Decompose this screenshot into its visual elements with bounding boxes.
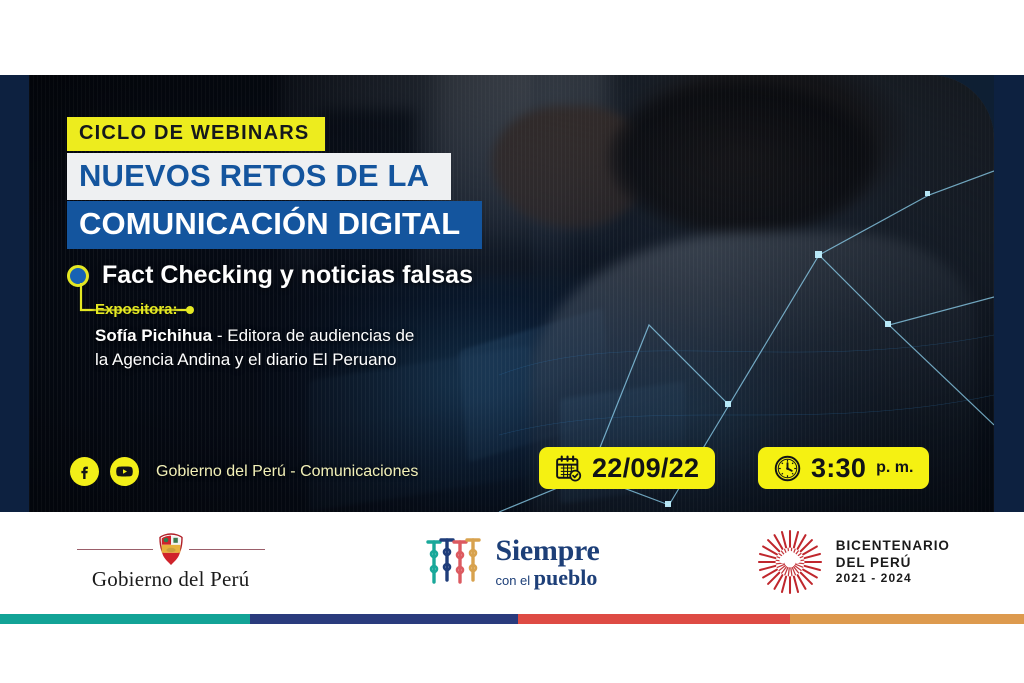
speaker-label: Expositora: — [95, 301, 178, 318]
stripe-segment-1 — [250, 614, 518, 624]
hero-banner: CICLO DE WEBINARS NUEVOS RETOS DE LA COM… — [0, 75, 1024, 512]
rule-right — [189, 549, 265, 550]
calendar-check-icon — [555, 455, 582, 482]
youtube-icon[interactable] — [110, 457, 139, 486]
stripe-segment-0 — [0, 614, 250, 624]
bicentenario-line-3: 2021 - 2024 — [836, 571, 950, 586]
date-badge: 22/09/22 — [539, 447, 715, 489]
bicentenario-sunburst-icon — [757, 529, 823, 595]
siempre-line-2-bold: pueblo — [534, 565, 598, 590]
peru-coat-of-arms-icon — [156, 532, 186, 566]
speaker-name: Sofía Pichihua — [95, 326, 212, 345]
siempre-line-1: Siempre — [495, 536, 599, 566]
footer-color-stripe — [0, 614, 1024, 624]
kicker-label: CICLO DE WEBINARS — [67, 117, 325, 151]
gobierno-del-peru-logo: Gobierno del Perú — [0, 532, 341, 592]
title-line-1: NUEVOS RETOS DE LA — [67, 153, 451, 200]
headline-block: CICLO DE WEBINARS NUEVOS RETOS DE LA COM… — [67, 117, 482, 249]
topic-block: Fact Checking y noticias falsas — [67, 261, 473, 290]
clock-icon — [774, 455, 801, 482]
bicentenario-line-2: DEL PERÚ — [836, 555, 950, 571]
rule-left — [77, 549, 153, 550]
bicentenario-logo: BICENTENARIO DEL PERÚ 2021 - 2024 — [683, 529, 1024, 595]
siempre-con-el-pueblo-icon — [424, 536, 486, 588]
speaker-details: Sofía Pichihua - Editora de audiencias d… — [95, 324, 414, 372]
date-value: 22/09/22 — [592, 453, 699, 484]
stripe-segment-3 — [790, 614, 1024, 624]
title-line-2: COMUNICACIÓN DIGITAL — [67, 201, 482, 249]
time-suffix: p. m. — [876, 459, 913, 477]
banner-right-edge — [994, 75, 1024, 512]
speaker-role-line-1: - Editora de audiencias de — [212, 326, 414, 345]
webinar-flyer: CICLO DE WEBINARS NUEVOS RETOS DE LA COM… — [0, 0, 1024, 683]
speaker-role-line-2: la Agencia Andina y el diario El Peruano — [95, 350, 396, 369]
bicentenario-line-1: BICENTENARIO — [836, 538, 950, 554]
time-value: 3:30 — [811, 453, 866, 484]
stripe-segment-2 — [518, 614, 790, 624]
social-handle: Gobierno del Perú - Comunicaciones — [156, 463, 418, 481]
facebook-icon[interactable] — [70, 457, 99, 486]
gobierno-label: Gobierno del Perú — [92, 567, 250, 592]
siempre-line-2-small: con el — [495, 573, 533, 588]
footer-logos: Gobierno del Perú — [0, 512, 1024, 612]
time-badge: 3:30 p. m. — [758, 447, 929, 489]
siempre-line-2: con el pueblo — [495, 567, 599, 589]
banner-left-edge — [0, 75, 29, 512]
siempre-con-el-pueblo-logo: Siempre con el pueblo — [341, 536, 682, 589]
social-row: Gobierno del Perú - Comunicaciones — [70, 457, 418, 486]
